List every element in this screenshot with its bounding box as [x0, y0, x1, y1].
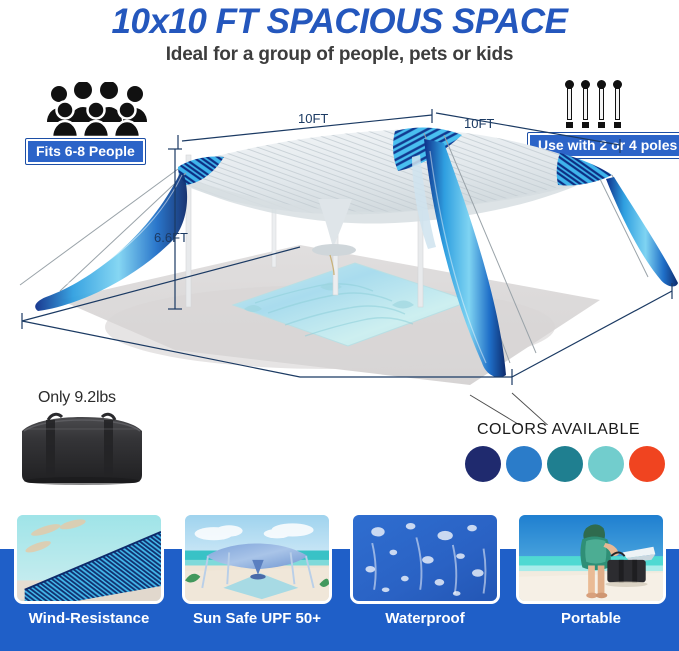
- page-subtitle: Ideal for a group of people, pets or kid…: [0, 44, 679, 66]
- feature-wind-resistance: Wind-Resistance: [14, 512, 164, 604]
- color-swatch-light-teal[interactable]: [588, 446, 624, 482]
- dimension-label-top-left: 10FT: [298, 111, 328, 126]
- feature-label-portable: Portable: [516, 610, 666, 627]
- bag-weight-label: Only 9.2lbs: [38, 389, 116, 407]
- product-infographic: 10x10 FT SPACIOUS SPACE Ideal for a grou…: [0, 0, 679, 651]
- color-swatch-list: [465, 446, 665, 482]
- water-droplets-photo: [350, 512, 500, 604]
- woman-carrying-bag-photo: [516, 512, 666, 604]
- feature-portable: Portable: [516, 512, 666, 604]
- feature-label-waterproof: Waterproof: [350, 610, 500, 627]
- dimension-label-height: 6.6FT: [154, 230, 188, 245]
- dimension-label-top-right: 10FT: [464, 116, 494, 131]
- feature-label-wind-resistance: Wind-Resistance: [14, 610, 164, 627]
- canopy-fabric-pattern-photo: [14, 512, 164, 604]
- duffel-bag-icon: [18, 411, 146, 486]
- feature-label-sun-safe: Sun Safe UPF 50+: [182, 610, 332, 627]
- color-swatch-navy[interactable]: [465, 446, 501, 482]
- feature-waterproof: Waterproof: [350, 512, 500, 604]
- color-swatch-teal[interactable]: [547, 446, 583, 482]
- beach-canopy-illustration: [0, 95, 679, 425]
- feature-sun-safe: Sun Safe UPF 50+: [182, 512, 332, 604]
- beach-canopy-setup-photo: [182, 512, 332, 604]
- color-swatch-blue[interactable]: [506, 446, 542, 482]
- page-title: 10x10 FT SPACIOUS SPACE: [0, 2, 679, 42]
- color-swatch-orange-red[interactable]: [629, 446, 665, 482]
- colors-available-title: COLORS AVAILABLE: [477, 421, 640, 439]
